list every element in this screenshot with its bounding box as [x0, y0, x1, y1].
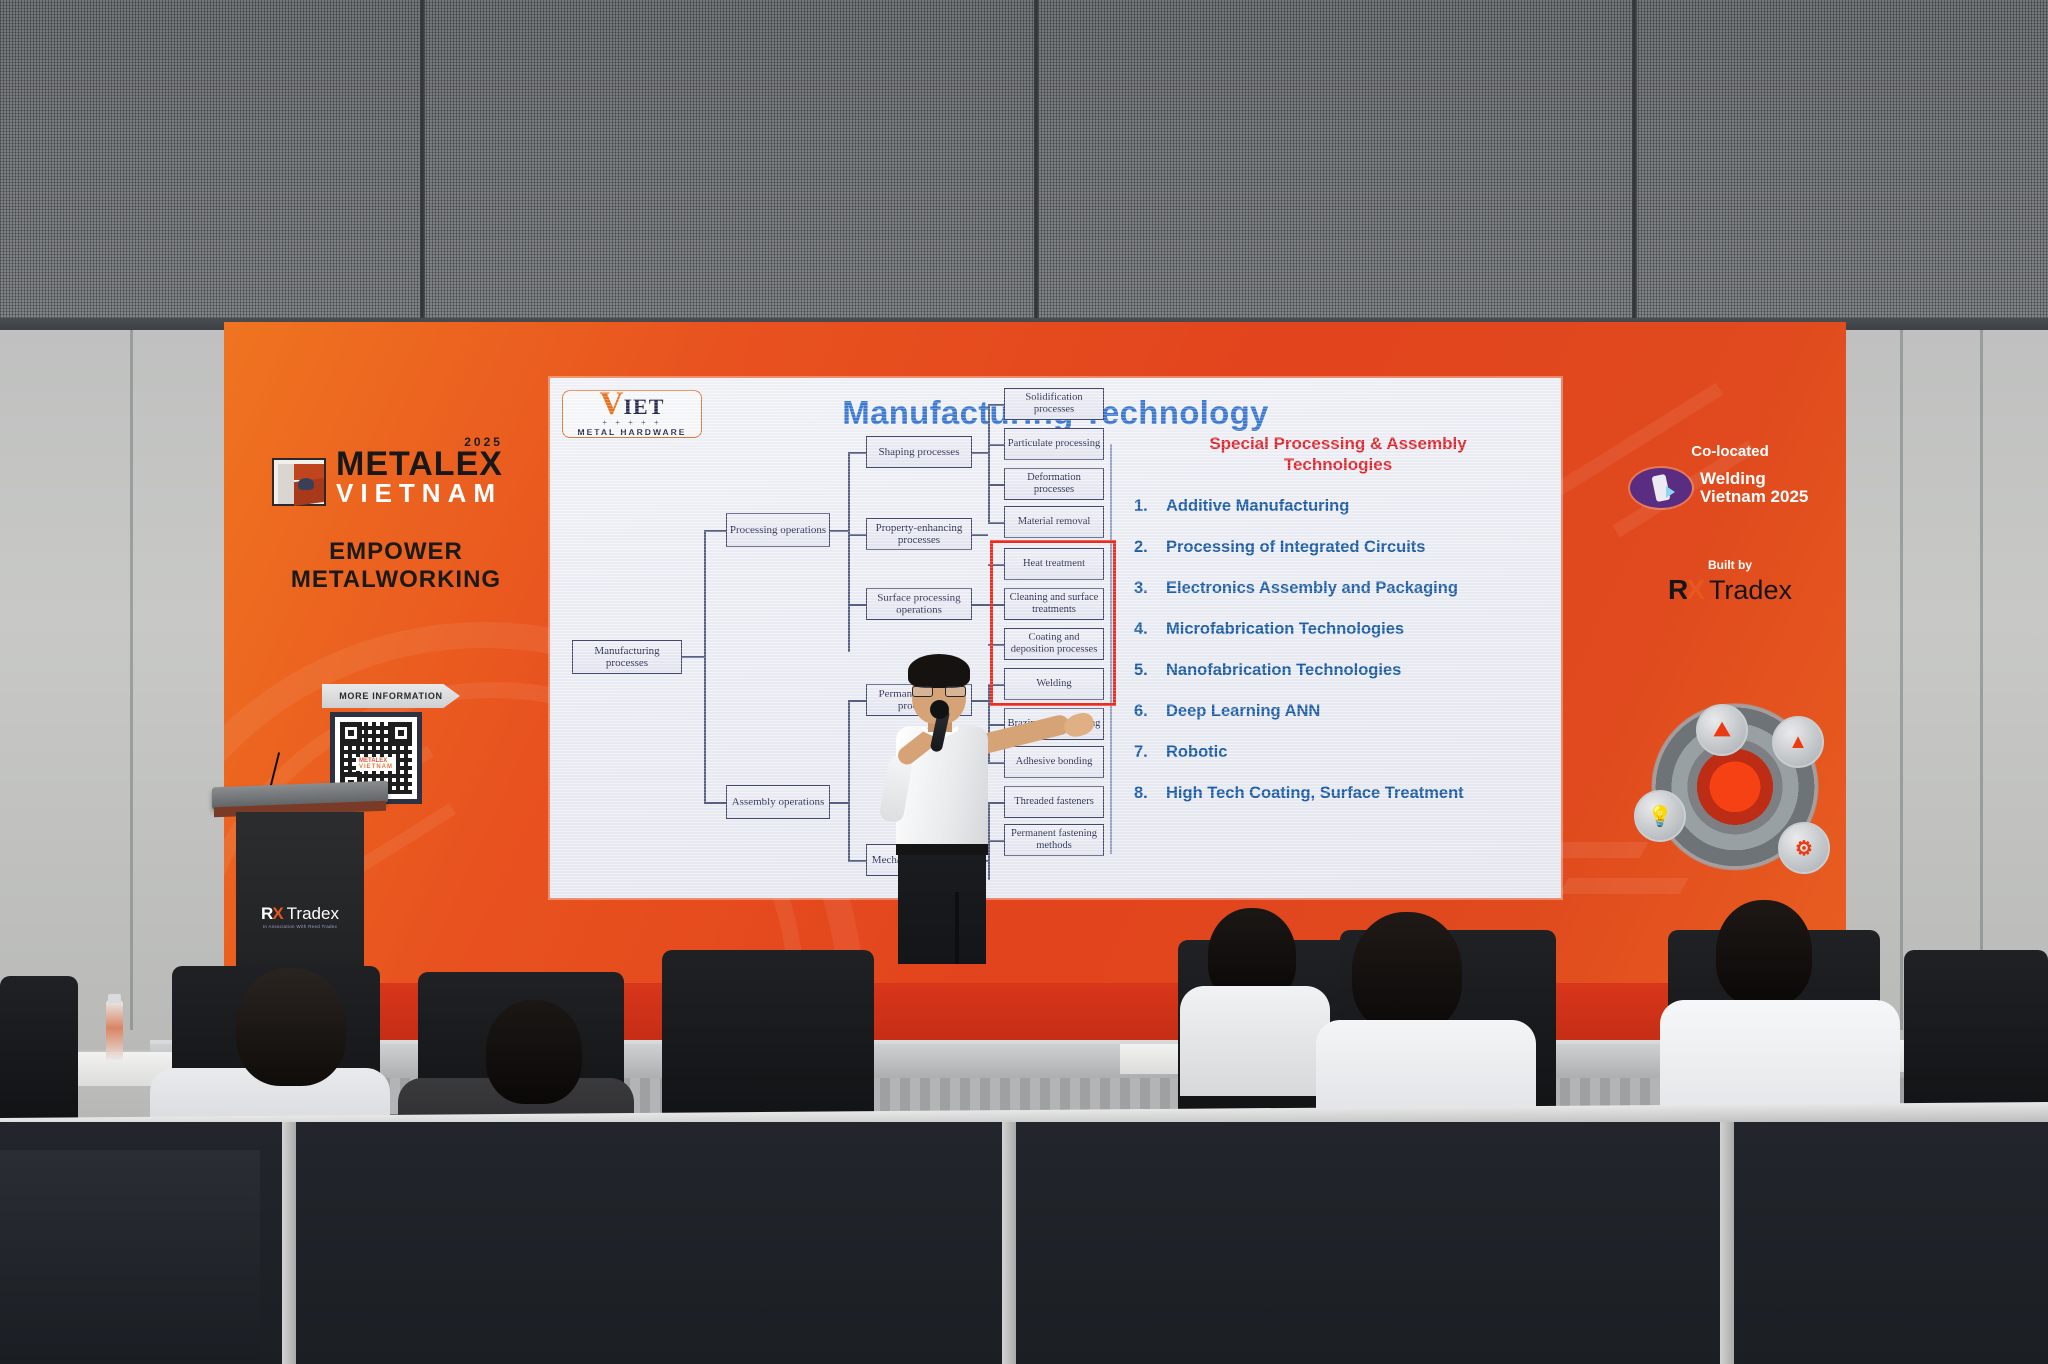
industrial-gears-graphic: ⛰ ▲ 💡 ⚙ [1620, 686, 1850, 896]
colocated-label: Co-located [1630, 443, 1830, 460]
wall-seam [420, 0, 425, 330]
partition-post [1002, 1122, 1016, 1364]
partition-left-fill [0, 1150, 260, 1364]
audience-member [1180, 986, 1330, 1096]
growth-chart-icon: ▲ [1772, 716, 1824, 768]
connector [972, 604, 988, 606]
backdrop-chevron [1560, 878, 1689, 894]
list-item-text: Microfabrication Technologies [1166, 620, 1404, 639]
wall-seam [1034, 0, 1039, 330]
wall-seam [1632, 0, 1637, 330]
brand-tagline-line1: EMPOWER [272, 538, 520, 566]
list-item-number: 1. [1134, 497, 1156, 516]
audience-head [236, 968, 346, 1086]
connector [830, 802, 848, 804]
brand-tagline-line2: METALWORKING [272, 566, 520, 594]
podium-subtitle: In Association With Reed Tradex [263, 924, 337, 929]
list-item-number: 7. [1134, 743, 1156, 762]
presenter-belt [896, 844, 988, 855]
partition-post [282, 1122, 296, 1364]
flow-node-particulate: Particulate processing [1004, 428, 1104, 460]
organizer-word: Tradex [1709, 575, 1792, 606]
list-item: 5. Nanofabrication Technologies [1128, 661, 1548, 680]
flow-node-solidification: Solidification processes [1004, 388, 1104, 420]
flow-node-shaping-processes: Shaping processes [866, 436, 972, 468]
list-item: 4. Microfabrication Technologies [1128, 620, 1548, 639]
list-item-number: 6. [1134, 702, 1156, 721]
connector [988, 444, 1004, 446]
more-information-label: MORE INFORMATION [339, 691, 443, 701]
panel-seam [1980, 330, 1983, 1030]
partition-panel [0, 1122, 2048, 1364]
colocated-event-line1: Welding [1700, 470, 1808, 488]
connector [682, 656, 704, 658]
metalex-logo-icon [272, 458, 326, 506]
presenter-legs [898, 850, 986, 964]
hall-ceiling-wall [0, 0, 2048, 330]
list-item-text: Additive Manufacturing [1166, 497, 1349, 516]
connector [848, 452, 850, 652]
bottle-cap [108, 994, 121, 1003]
list-item-number: 3. [1134, 579, 1156, 598]
water-bottle [106, 1000, 123, 1062]
connector [704, 802, 726, 804]
connector [988, 404, 1004, 406]
list-item: 8. High Tech Coating, Surface Treatment [1128, 784, 1548, 803]
flow-node-root: Manufacturing processes [572, 640, 682, 674]
more-information-banner: MORE INFORMATION [322, 684, 460, 708]
list-item: 2. Processing of Integrated Circuits [1128, 538, 1548, 557]
colocated-event-line2: Vietnam 2025 [1700, 487, 1808, 506]
list-item-text: Deep Learning ANN [1166, 702, 1320, 721]
colocated-block: Co-located Welding Vietnam 2025 Built by… [1630, 443, 1830, 606]
panel-heading-line1: Special Processing & Assembly [1128, 434, 1548, 455]
list-item: 3. Electronics Assembly and Packaging [1128, 579, 1548, 598]
list-item-number: 2. [1134, 538, 1156, 557]
connector [848, 700, 850, 860]
audience-head [1352, 912, 1462, 1032]
projected-slide: V IET + + + + + METAL HARDWARE Manufactu… [550, 378, 1561, 898]
presenter [860, 652, 1050, 964]
podium-logo: RX Tradex [261, 904, 339, 924]
lightbulb-icon: 💡 [1634, 790, 1686, 842]
settings-gear-icon: ⚙ [1778, 822, 1830, 874]
glasses-icon [912, 686, 966, 697]
list-item-text: Nanofabrication Technologies [1166, 661, 1401, 680]
flow-node-assembly-operations: Assembly operations [726, 785, 830, 819]
flow-node-processing-operations: Processing operations [726, 513, 830, 547]
connector [704, 530, 726, 532]
connector [988, 484, 1004, 486]
list-item: 1. Additive Manufacturing [1128, 497, 1548, 516]
list-item-text: Electronics Assembly and Packaging [1166, 579, 1458, 598]
metalex-brand-block: 2025 METALEX VIETNAM EMPOWER METALWORKIN… [272, 437, 520, 594]
connector [988, 522, 1004, 524]
list-item-number: 5. [1134, 661, 1156, 680]
connector [830, 530, 848, 532]
panel-seam [1900, 330, 1903, 1030]
presenter-hair [908, 654, 970, 688]
presenter-leg-split [955, 892, 959, 964]
flow-node-property-enhancing: Property-enhancing processes [866, 518, 972, 550]
flow-node-surface-processing: Surface processing operations [866, 588, 972, 620]
audience-head [1716, 900, 1812, 1006]
connector [848, 534, 866, 536]
list-item-text: Robotic [1166, 743, 1227, 762]
list-item-number: 4. [1134, 620, 1156, 639]
list-item: 7. Robotic [1128, 743, 1548, 762]
seminar-stage-photo: 2025 METALEX VIETNAM EMPOWER METALWORKIN… [0, 0, 2048, 1364]
brand-country: VIETNAM [336, 482, 503, 506]
panel-seam [130, 330, 133, 1030]
qr-logo-bottom: VIETNAM [359, 764, 393, 770]
qr-center-logo: METALEX VIETNAM [356, 757, 396, 771]
list-item: 6. Deep Learning ANN [1128, 702, 1548, 721]
connector [972, 452, 988, 454]
podium-rx-mark: RX [261, 904, 283, 924]
brand-name: METALEX [336, 449, 503, 480]
connector [972, 534, 988, 536]
microphone-head [930, 700, 949, 719]
connector [848, 604, 866, 606]
flow-node-material-removal: Material removal [1004, 506, 1104, 538]
rx-logo-icon: RX [1668, 574, 1703, 606]
panel-heading-line2: Technologies [1128, 455, 1548, 476]
podium-logo-word: Tradex [287, 904, 339, 924]
special-processing-panel: Special Processing & Assembly Technologi… [1128, 434, 1548, 803]
flow-node-deformation: Deformation processes [1004, 468, 1104, 500]
welding-vietnam-logo-icon [1630, 468, 1692, 508]
connector [704, 530, 706, 802]
connector [848, 452, 866, 454]
connector [988, 404, 990, 522]
list-item-text: Processing of Integrated Circuits [1166, 538, 1425, 557]
audience-head [486, 1000, 582, 1104]
built-by-label: Built by [1630, 558, 1830, 572]
factory-icon: ⛰ [1696, 704, 1748, 756]
partition-post [1720, 1122, 1734, 1364]
list-item-number: 8. [1134, 784, 1156, 803]
list-item-text: High Tech Coating, Surface Treatment [1166, 784, 1464, 803]
